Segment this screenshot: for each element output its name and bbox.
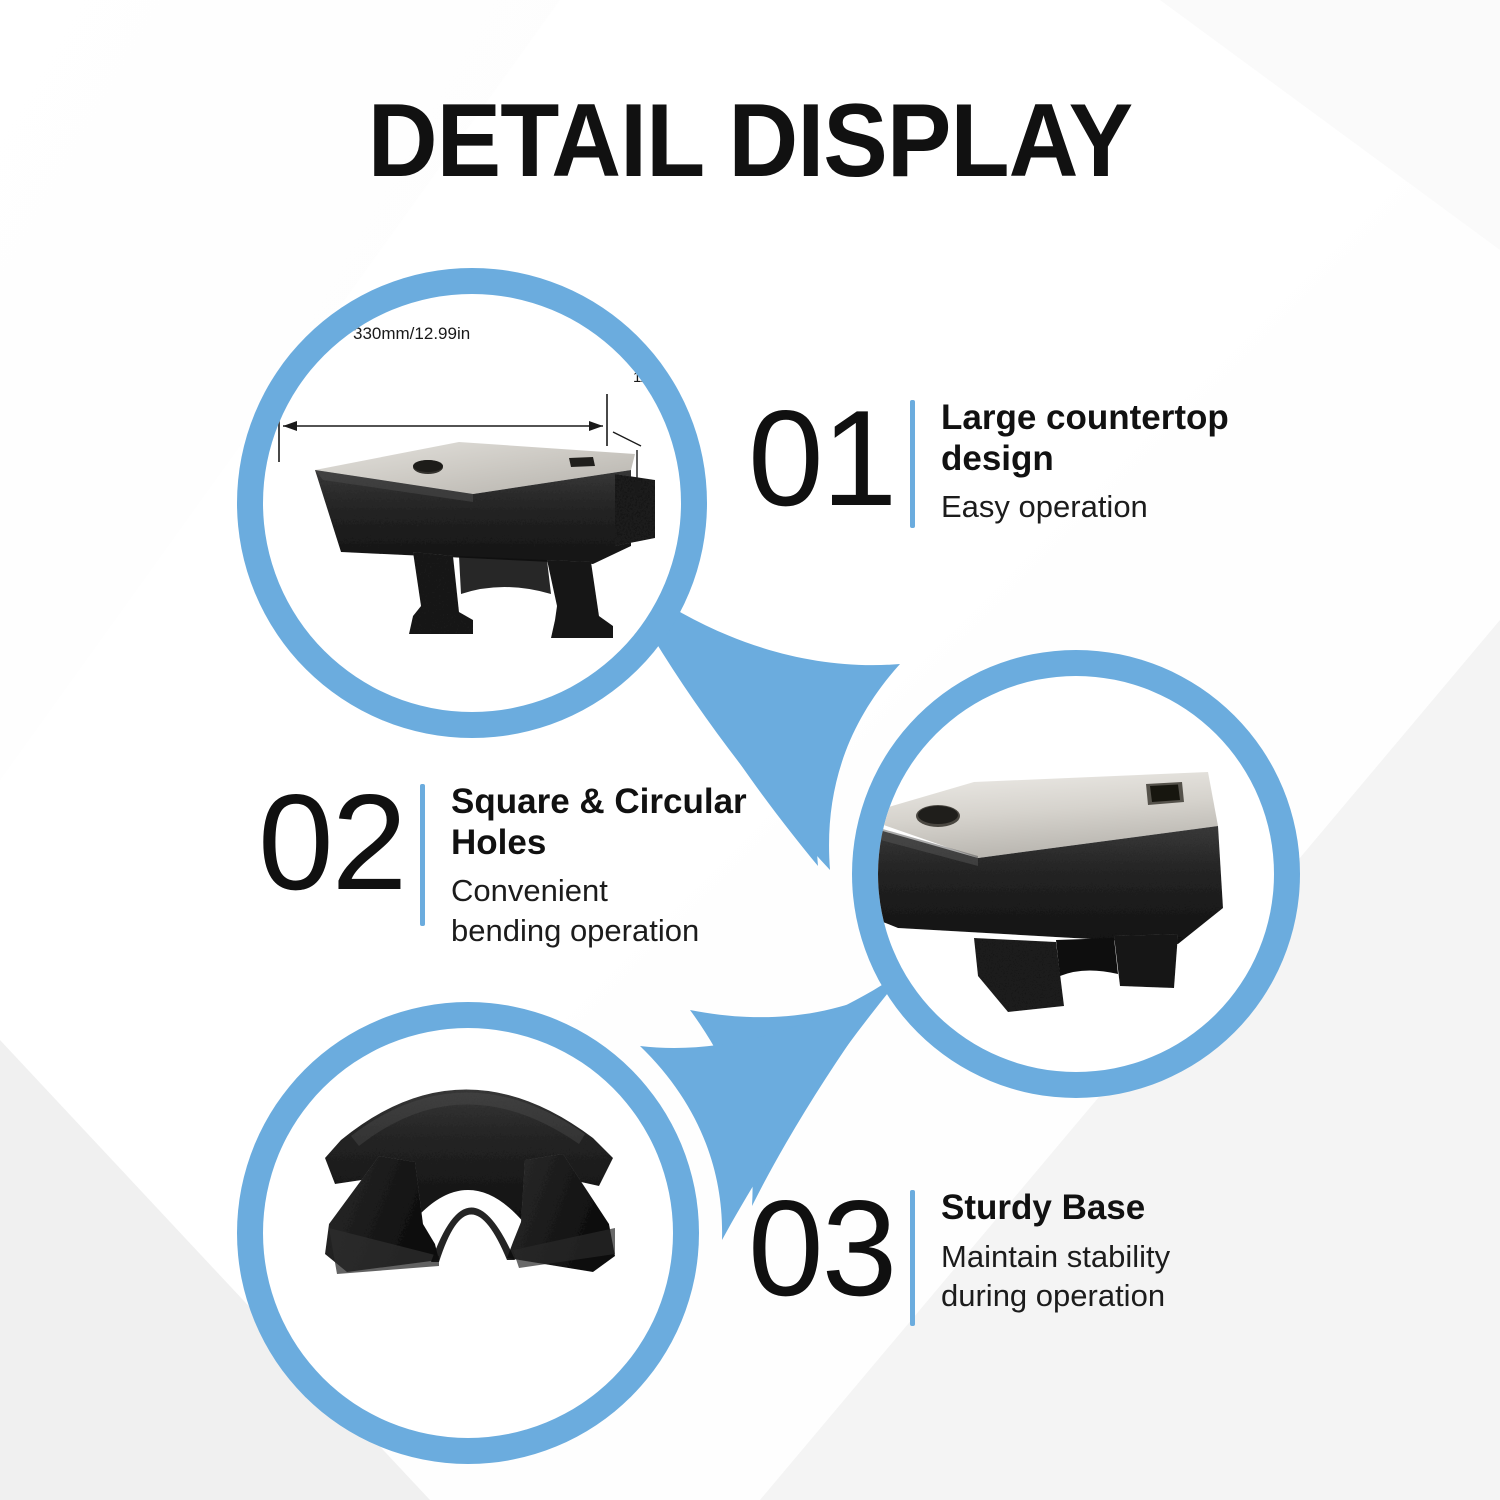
- feature-number-2: 02: [258, 776, 394, 909]
- feature-subtitle-2-line1: Convenient: [451, 871, 781, 911]
- feature-image-circle-2: [852, 650, 1300, 1098]
- feature-title-2: Square & Circular Holes: [451, 782, 781, 863]
- callout-divider-2: [420, 784, 425, 926]
- callout-divider-1: [910, 400, 915, 528]
- anvil-holes-illustration: [878, 676, 1274, 1072]
- dimension-height-label: 117m: [633, 369, 669, 386]
- square-hole: [1150, 785, 1180, 803]
- anvil-foot: [974, 938, 1064, 1012]
- anvil-base-illustration: [263, 1028, 673, 1438]
- feature-image-circle-1: 330mm/12.99in 117m: [237, 268, 707, 738]
- feature-number-1: 01: [748, 392, 884, 525]
- anvil-foot-right: [547, 560, 613, 638]
- feature-subtitle-1: Easy operation: [941, 487, 1271, 527]
- feature-subtitle-3-line1: Maintain stability: [941, 1237, 1170, 1277]
- feature-subtitle-2-line2: bending operation: [451, 911, 781, 951]
- dimension-width-label: 330mm/12.99in: [353, 324, 470, 344]
- callout-divider-3: [910, 1190, 915, 1326]
- feature-subtitle-3-line2: during operation: [941, 1276, 1170, 1316]
- feature-number-3: 03: [748, 1182, 884, 1315]
- feature-callout-1: 01 Large countertop design Easy operatio…: [748, 392, 1271, 528]
- anvil-profile-illustration: [263, 294, 681, 712]
- feature-image-circle-3: [237, 1002, 699, 1464]
- detail-display-page: DETAIL DISPLAY: [0, 0, 1500, 1500]
- feature-title-1: Large countertop design: [941, 398, 1271, 479]
- feature-callout-3: 03 Sturdy Base Maintain stability during…: [748, 1182, 1170, 1326]
- square-hole: [569, 457, 595, 467]
- feature-callout-2: 02 Square & Circular Holes Convenient be…: [258, 776, 781, 951]
- feature-title-3: Sturdy Base: [941, 1188, 1170, 1229]
- circular-hole: [918, 806, 958, 824]
